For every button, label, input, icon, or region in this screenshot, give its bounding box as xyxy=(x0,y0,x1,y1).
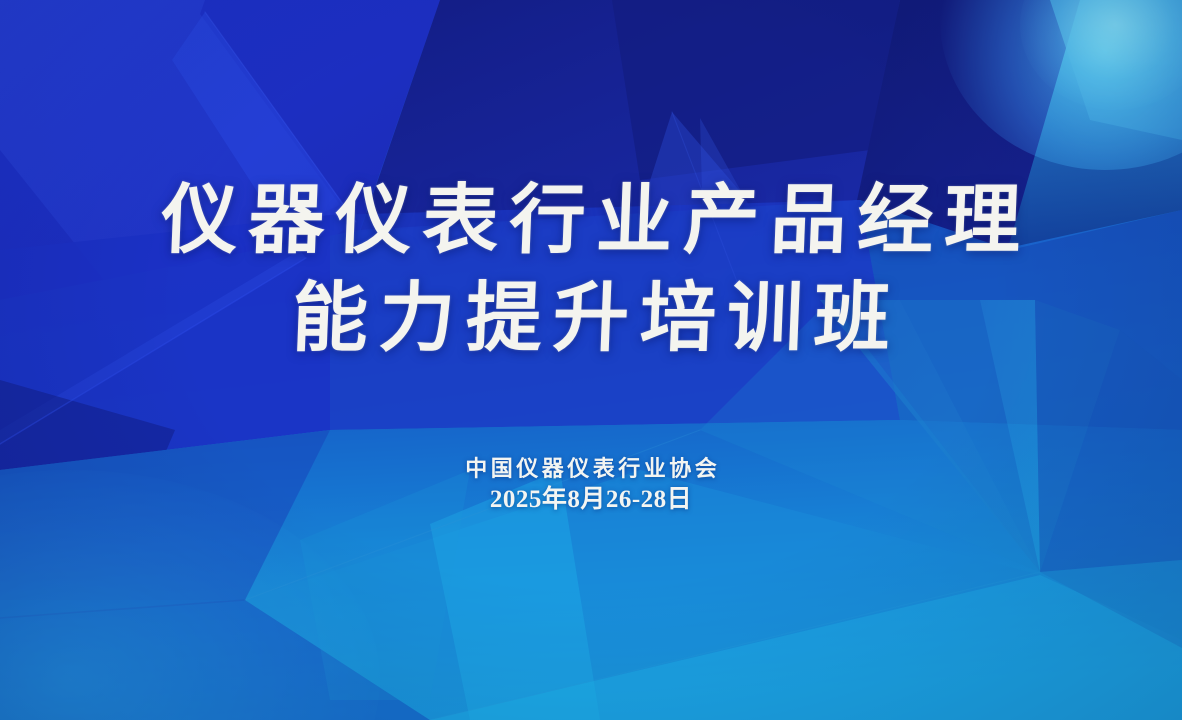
event-date: 2025年8月26-28日 xyxy=(0,484,1182,516)
poster-content: 仪器仪表行业产品经理 能力提升培训班 中国仪器仪表行业协会 2025年8月26-… xyxy=(0,0,1182,720)
title-line-2: 能力提升培训班 xyxy=(0,270,1182,368)
poster-canvas: 仪器仪表行业产品经理 能力提升培训班 中国仪器仪表行业协会 2025年8月26-… xyxy=(0,0,1182,720)
poster-subtitle: 中国仪器仪表行业协会 2025年8月26-28日 xyxy=(0,454,1182,516)
poster-title: 仪器仪表行业产品经理 能力提升培训班 xyxy=(0,172,1182,368)
organizer-name: 中国仪器仪表行业协会 xyxy=(0,454,1182,484)
title-line-1: 仪器仪表行业产品经理 xyxy=(0,172,1182,270)
